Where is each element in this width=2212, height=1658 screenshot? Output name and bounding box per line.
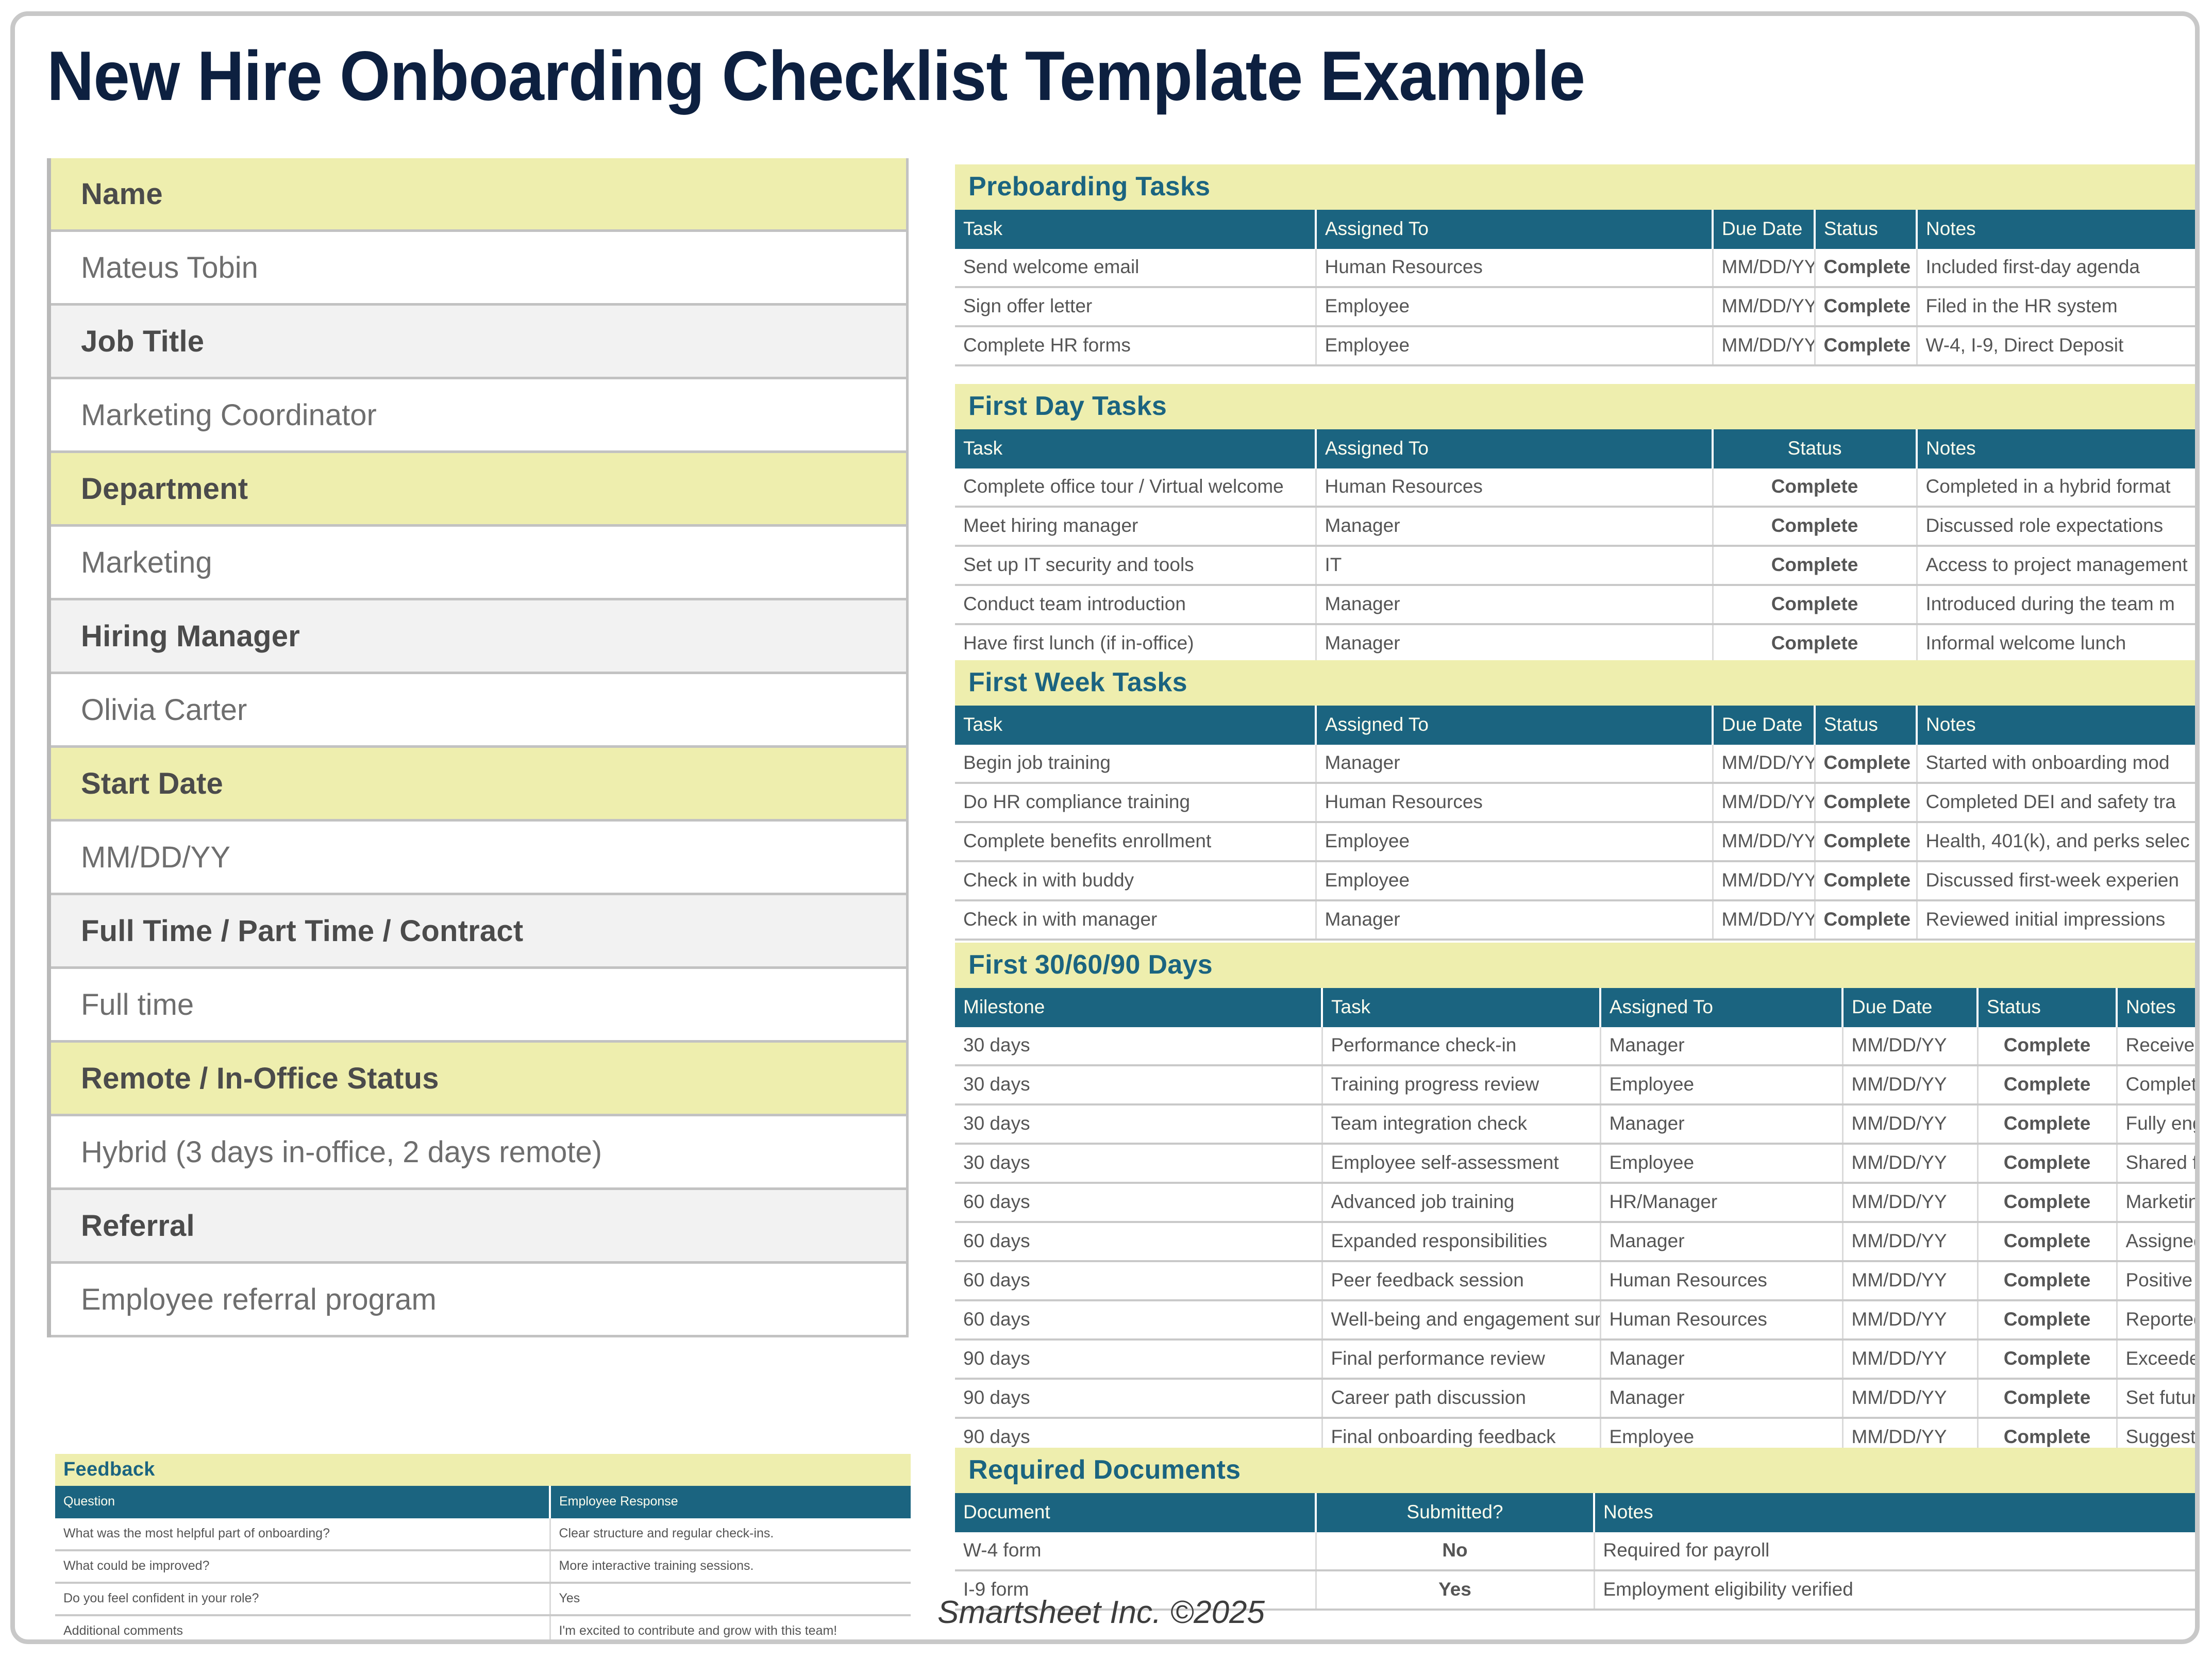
table-row: Check in with buddyEmployeeMM/DD/YYCompl… <box>955 861 2200 900</box>
status-badge[interactable]: Complete <box>1978 1144 2117 1183</box>
section-title-milestones: First 30/60/90 Days <box>955 943 2200 988</box>
table-row: 30 daysPerformance check-inManagerMM/DD/… <box>955 1027 2200 1065</box>
table-cell[interactable]: Human Resources <box>1316 249 1713 287</box>
column-header[interactable]: Due Date <box>1713 706 1815 745</box>
table-cell[interactable]: Completed co <box>2117 1065 2200 1104</box>
table-cell[interactable]: Marketing sof <box>2117 1183 2200 1222</box>
employee-info-panel: NameMateus TobinJob TitleMarketing Coord… <box>47 158 909 1337</box>
table-cell[interactable]: Employee <box>1600 1065 1842 1104</box>
table-cell[interactable]: Manager <box>1316 585 1713 624</box>
status-badge[interactable]: Complete <box>1815 326 1917 365</box>
table-cell[interactable]: Access to project management <box>1917 546 2200 585</box>
column-header[interactable]: Task <box>955 210 1316 249</box>
table-row: 60 daysExpanded responsibilitiesManagerM… <box>955 1222 2200 1261</box>
status-badge[interactable]: Complete <box>1815 822 1917 861</box>
column-header[interactable]: Task <box>955 429 1316 468</box>
table-cell[interactable]: MM/DD/YY <box>1713 822 1815 861</box>
table-cell[interactable]: 30 days <box>955 1065 1322 1104</box>
table-row: 90 daysFinal performance reviewManagerMM… <box>955 1339 2200 1379</box>
table-cell[interactable]: HR/Manager <box>1600 1183 1842 1222</box>
table-cell[interactable]: MM/DD/YY <box>1713 326 1815 365</box>
status-badge[interactable]: Complete <box>1815 783 1917 822</box>
table-cell[interactable]: Manager <box>1600 1339 1842 1379</box>
status-badge[interactable]: Complete <box>1815 861 1917 900</box>
table-cell[interactable]: Manager <box>1316 745 1713 783</box>
table-cell[interactable]: Well-being and engagement survey <box>1322 1300 1600 1339</box>
table-cell[interactable]: Complete benefits enrollment <box>955 822 1316 861</box>
table-cell[interactable]: MM/DD/YY <box>1842 1300 1978 1339</box>
table-cell[interactable]: Manager <box>1600 1379 1842 1418</box>
table-cell[interactable]: Begin job training <box>955 745 1316 783</box>
table-cell[interactable]: MM/DD/YY <box>1842 1379 1978 1418</box>
table-cell[interactable]: Discussed role expectations <box>1917 507 2200 546</box>
section-feedback: Feedback QuestionEmployee ResponseWhat w… <box>55 1454 911 1644</box>
section-required-documents: Required Documents DocumentSubmitted?Not… <box>955 1448 2200 1611</box>
table-cell[interactable]: Shared feedb <box>2117 1144 2200 1183</box>
table-cell[interactable]: Complete HR forms <box>955 326 1316 365</box>
table-cell[interactable]: What was the most helpful part of onboar… <box>55 1518 550 1550</box>
section-preboarding-tasks: Preboarding Tasks TaskAssigned ToDue Dat… <box>955 164 2200 366</box>
table-cell[interactable]: Send welcome email <box>955 249 1316 287</box>
table-cell[interactable]: 90 days <box>955 1339 1322 1379</box>
info-label: Hiring Manager <box>51 600 909 674</box>
table-cell[interactable]: Completed in a hybrid format <box>1917 468 2200 507</box>
table-cell[interactable]: Introduced during the team m <box>1917 585 2200 624</box>
table-cell[interactable]: Manager <box>1316 507 1713 546</box>
status-badge[interactable]: Complete <box>1978 1222 2117 1261</box>
table-row: What was the most helpful part of onboar… <box>55 1518 911 1550</box>
table-header-row: QuestionEmployee Response <box>55 1486 911 1518</box>
status-badge[interactable]: Complete <box>1815 249 1917 287</box>
table-cell[interactable]: 30 days <box>955 1027 1322 1065</box>
table-cell[interactable]: What could be improved? <box>55 1550 550 1583</box>
table-cell[interactable]: 60 days <box>955 1261 1322 1300</box>
column-header[interactable]: Assigned To <box>1316 429 1713 468</box>
page-title: New Hire Onboarding Checklist Template E… <box>47 36 1585 116</box>
table-row: 60 daysWell-being and engagement surveyH… <box>955 1300 2200 1339</box>
table-cell[interactable]: MM/DD/YY <box>1842 1222 1978 1261</box>
table-header-row: TaskAssigned ToDue DateStatusNotes <box>955 706 2200 745</box>
table-cell[interactable]: Received pos <box>2117 1027 2200 1065</box>
table-cell[interactable]: Employee <box>1316 326 1713 365</box>
table-cell[interactable]: Manager <box>1600 1027 1842 1065</box>
column-header[interactable]: Due Date <box>1842 988 1978 1027</box>
table-row: 60 daysPeer feedback sessionHuman Resour… <box>955 1261 2200 1300</box>
table-row: Sign offer letterEmployeeMM/DD/YYComplet… <box>955 287 2200 326</box>
required-documents-table: DocumentSubmitted?NotesW-4 formNoRequire… <box>955 1493 2200 1611</box>
column-header[interactable]: Document <box>955 1493 1316 1532</box>
table-cell[interactable]: 30 days <box>955 1144 1322 1183</box>
info-value[interactable]: Olivia Carter <box>51 674 909 748</box>
section-title-first-week: First Week Tasks <box>955 660 2200 706</box>
status-badge[interactable]: Complete <box>1713 546 1917 585</box>
section-title-required-documents: Required Documents <box>955 1448 2200 1493</box>
table-row: Meet hiring managerManagerCompleteDiscus… <box>955 507 2200 546</box>
document-page: New Hire Onboarding Checklist Template E… <box>10 11 2200 1644</box>
table-cell[interactable]: Discussed first-week experien <box>1917 861 2200 900</box>
table-cell[interactable]: Employee self-assessment <box>1322 1144 1600 1183</box>
table-cell[interactable]: Clear structure and regular check-ins. <box>550 1518 911 1550</box>
column-header[interactable]: Status <box>1815 706 1917 745</box>
table-row: Do you feel confident in your role?Yes <box>55 1583 911 1615</box>
column-header[interactable]: Notes <box>1594 1493 2200 1532</box>
table-row: Conduct team introductionManagerComplete… <box>955 585 2200 624</box>
table-cell[interactable]: Filed in the HR system <box>1917 287 2200 326</box>
submitted-badge[interactable]: Yes <box>1316 1570 1594 1610</box>
table-cell[interactable]: MM/DD/YY <box>1842 1144 1978 1183</box>
table-cell[interactable]: MM/DD/YY <box>1713 861 1815 900</box>
table-row: 30 daysEmployee self-assessmentEmployeeM… <box>955 1144 2200 1183</box>
table-cell[interactable]: W-4, I-9, Direct Deposit <box>1917 326 2200 365</box>
column-header[interactable]: Employee Response <box>550 1486 911 1518</box>
column-header[interactable]: Notes <box>2117 988 2200 1027</box>
table-cell[interactable]: Health, 401(k), and perks selec <box>1917 822 2200 861</box>
section-first-day-tasks: First Day Tasks TaskAssigned ToStatusNot… <box>955 384 2200 664</box>
table-row: Set up IT security and toolsITCompleteAc… <box>955 546 2200 585</box>
table-header-row: TaskAssigned ToDue DateStatusNotes <box>955 210 2200 249</box>
table-cell[interactable]: Human Resources <box>1600 1261 1842 1300</box>
status-badge[interactable]: Complete <box>1713 507 1917 546</box>
column-header[interactable]: Question <box>55 1486 550 1518</box>
table-cell[interactable]: Started with onboarding mod <box>1917 745 2200 783</box>
column-header[interactable]: Notes <box>1917 429 2200 468</box>
table-cell[interactable]: 90 days <box>955 1379 1322 1418</box>
info-label: Department <box>51 453 909 527</box>
table-row: What could be improved?More interactive … <box>55 1550 911 1583</box>
table-cell[interactable]: Manager <box>1316 624 1713 663</box>
table-cell[interactable]: Advanced job training <box>1322 1183 1600 1222</box>
table-row: Do HR compliance trainingHuman Resources… <box>955 783 2200 822</box>
info-label: Full Time / Part Time / Contract <box>51 895 909 969</box>
table-cell[interactable]: Reported high <box>2117 1300 2200 1339</box>
column-header[interactable]: Assigned To <box>1316 706 1713 745</box>
table-cell[interactable]: MM/DD/YY <box>1842 1261 1978 1300</box>
table-row: 60 daysAdvanced job trainingHR/ManagerMM… <box>955 1183 2200 1222</box>
table-cell[interactable]: Have first lunch (if in-office) <box>955 624 1316 663</box>
info-value[interactable]: MM/DD/YY <box>51 822 909 895</box>
column-header[interactable]: Due Date <box>1713 210 1815 249</box>
table-row: Complete office tour / Virtual welcomeHu… <box>955 468 2200 507</box>
table-cell[interactable]: Final performance review <box>1322 1339 1600 1379</box>
column-header[interactable]: Notes <box>1917 210 2200 249</box>
status-badge[interactable]: Complete <box>1815 900 1917 940</box>
table-cell[interactable]: More interactive training sessions. <box>550 1550 911 1583</box>
table-cell[interactable]: Employee <box>1316 287 1713 326</box>
table-cell[interactable]: 30 days <box>955 1104 1322 1144</box>
table-cell[interactable]: Included first-day agenda <box>1917 249 2200 287</box>
info-label: Job Title <box>51 306 909 379</box>
column-header[interactable]: Task <box>955 706 1316 745</box>
table-cell[interactable]: MM/DD/YY <box>1713 745 1815 783</box>
table-cell[interactable]: Performance check-in <box>1322 1027 1600 1065</box>
table-row: 30 daysTraining progress reviewEmployeeM… <box>955 1065 2200 1104</box>
table-cell[interactable]: Manager <box>1600 1222 1842 1261</box>
column-header[interactable]: Milestone <box>955 988 1322 1027</box>
table-row: Send welcome emailHuman ResourcesMM/DD/Y… <box>955 249 2200 287</box>
status-badge[interactable]: Complete <box>1978 1065 2117 1104</box>
section-first-week-tasks: First Week Tasks TaskAssigned ToDue Date… <box>955 660 2200 941</box>
table-row: Additional commentsI'm excited to contri… <box>55 1615 911 1644</box>
column-header[interactable]: Status <box>1978 988 2117 1027</box>
table-row: Complete HR formsEmployeeMM/DD/YYComplet… <box>955 326 2200 365</box>
status-badge[interactable]: Complete <box>1713 624 1917 663</box>
table-cell[interactable]: Check in with buddy <box>955 861 1316 900</box>
table-cell[interactable]: Human Resources <box>1600 1300 1842 1339</box>
column-header[interactable]: Assigned To <box>1600 988 1842 1027</box>
table-cell[interactable]: 60 days <box>955 1183 1322 1222</box>
table-cell[interactable]: Sign offer letter <box>955 287 1316 326</box>
table-cell[interactable]: 60 days <box>955 1300 1322 1339</box>
first-week-tasks-table: TaskAssigned ToDue DateStatusNotesBegin … <box>955 706 2200 941</box>
info-value[interactable]: Mateus Tobin <box>51 232 909 306</box>
table-cell[interactable]: Do HR compliance training <box>955 783 1316 822</box>
table-cell[interactable]: Human Resources <box>1316 468 1713 507</box>
table-cell[interactable]: Employee <box>1316 861 1713 900</box>
table-cell[interactable]: Do you feel confident in your role? <box>55 1583 550 1615</box>
table-row: Check in with managerManagerMM/DD/YYComp… <box>955 900 2200 940</box>
column-header[interactable]: Submitted? <box>1316 1493 1594 1532</box>
table-cell[interactable]: MM/DD/YY <box>1713 249 1815 287</box>
table-cell[interactable]: Conduct team introduction <box>955 585 1316 624</box>
table-header-row: DocumentSubmitted?Notes <box>955 1493 2200 1532</box>
table-cell[interactable]: Assigned a mo <box>2117 1222 2200 1261</box>
feedback-table: QuestionEmployee ResponseWhat was the mo… <box>55 1486 911 1644</box>
status-badge[interactable]: Complete <box>1713 468 1917 507</box>
section-title-first-day: First Day Tasks <box>955 384 2200 429</box>
status-badge[interactable]: Complete <box>1978 1183 2117 1222</box>
table-cell[interactable]: I'm excited to contribute and grow with … <box>550 1615 911 1644</box>
info-value[interactable]: Marketing Coordinator <box>51 379 909 453</box>
table-cell[interactable]: Additional comments <box>55 1615 550 1644</box>
table-cell[interactable]: Training progress review <box>1322 1065 1600 1104</box>
table-row: 30 daysTeam integration checkManagerMM/D… <box>955 1104 2200 1144</box>
status-badge[interactable]: Complete <box>1978 1379 2117 1418</box>
section-first-30-60-90-days: First 30/60/90 Days MilestoneTaskAssigne… <box>955 943 2200 1497</box>
table-cell[interactable]: Team integration check <box>1322 1104 1600 1144</box>
table-cell[interactable]: Set future grow <box>2117 1379 2200 1418</box>
section-title-feedback: Feedback <box>55 1454 911 1486</box>
table-cell[interactable]: Complete office tour / Virtual welcome <box>955 468 1316 507</box>
info-label: Start Date <box>51 748 909 822</box>
info-value[interactable]: Employee referral program <box>51 1264 909 1337</box>
table-cell[interactable]: Informal welcome lunch <box>1917 624 2200 663</box>
info-label: Remote / In-Office Status <box>51 1043 909 1116</box>
table-cell[interactable]: Employee <box>1600 1144 1842 1183</box>
copyright-footer: Smartsheet Inc. ©2025 <box>937 1594 1265 1631</box>
submitted-badge[interactable]: No <box>1316 1532 1594 1570</box>
table-cell[interactable]: Manager <box>1600 1104 1842 1144</box>
preboarding-tasks-table: TaskAssigned ToDue DateStatusNotesSend w… <box>955 210 2200 366</box>
table-cell[interactable]: IT <box>1316 546 1713 585</box>
info-value[interactable]: Hybrid (3 days in-office, 2 days remote) <box>51 1116 909 1190</box>
table-header-row: TaskAssigned ToStatusNotes <box>955 429 2200 468</box>
table-cell[interactable]: MM/DD/YY <box>1842 1065 1978 1104</box>
table-cell[interactable]: Reviewed initial impressions <box>1917 900 2200 940</box>
table-cell[interactable]: Set up IT security and tools <box>955 546 1316 585</box>
column-header[interactable]: Status <box>1815 210 1917 249</box>
table-cell[interactable]: Exceeded exp <box>2117 1339 2200 1379</box>
table-row: 90 daysCareer path discussionManagerMM/D… <box>955 1379 2200 1418</box>
table-cell[interactable]: MM/DD/YY <box>1842 1104 1978 1144</box>
info-label: Referral <box>51 1190 909 1264</box>
table-cell[interactable]: MM/DD/YY <box>1842 1183 1978 1222</box>
column-header[interactable]: Notes <box>1917 706 2200 745</box>
table-cell[interactable]: Career path discussion <box>1322 1379 1600 1418</box>
column-header[interactable]: Assigned To <box>1316 210 1713 249</box>
column-header[interactable]: Status <box>1713 429 1917 468</box>
table-cell[interactable]: Completed DEI and safety tra <box>1917 783 2200 822</box>
info-value[interactable]: Marketing <box>51 527 909 600</box>
table-cell[interactable]: Positive feedb <box>2117 1261 2200 1300</box>
table-cell[interactable]: Required for payroll <box>1594 1532 2200 1570</box>
section-title-preboarding: Preboarding Tasks <box>955 164 2200 210</box>
table-cell[interactable]: 60 days <box>955 1222 1322 1261</box>
table-cell[interactable]: Fully engaged <box>2117 1104 2200 1144</box>
table-cell[interactable]: Human Resources <box>1316 783 1713 822</box>
table-cell[interactable]: MM/DD/YY <box>1713 900 1815 940</box>
column-header[interactable]: Task <box>1322 988 1600 1027</box>
table-cell[interactable]: Employment eligibility verified <box>1594 1570 2200 1610</box>
table-cell[interactable]: MM/DD/YY <box>1842 1027 1978 1065</box>
table-cell[interactable]: Expanded responsibilities <box>1322 1222 1600 1261</box>
table-cell[interactable]: W-4 form <box>955 1532 1316 1570</box>
info-label: Name <box>51 158 909 232</box>
table-cell[interactable]: Peer feedback session <box>1322 1261 1600 1300</box>
table-cell[interactable]: MM/DD/YY <box>1842 1339 1978 1379</box>
status-badge[interactable]: Complete <box>1713 585 1917 624</box>
status-badge[interactable]: Complete <box>1978 1300 2117 1339</box>
table-cell[interactable]: Employee <box>1316 822 1713 861</box>
status-badge[interactable]: Complete <box>1815 287 1917 326</box>
status-badge[interactable]: Complete <box>1815 745 1917 783</box>
status-badge[interactable]: Complete <box>1978 1339 2117 1379</box>
first-day-tasks-table: TaskAssigned ToStatusNotesComplete offic… <box>955 429 2200 664</box>
table-cell[interactable]: MM/DD/YY <box>1713 783 1815 822</box>
table-cell[interactable]: Check in with manager <box>955 900 1316 940</box>
table-cell[interactable]: Manager <box>1316 900 1713 940</box>
table-row: Begin job trainingManagerMM/DD/YYComplet… <box>955 745 2200 783</box>
table-cell[interactable]: Yes <box>550 1583 911 1615</box>
milestones-table: MilestoneTaskAssigned ToDue DateStatusNo… <box>955 988 2200 1497</box>
table-row: Have first lunch (if in-office)ManagerCo… <box>955 624 2200 663</box>
status-badge[interactable]: Complete <box>1978 1261 2117 1300</box>
info-value[interactable]: Full time <box>51 969 909 1043</box>
table-cell[interactable]: Meet hiring manager <box>955 507 1316 546</box>
table-cell[interactable]: MM/DD/YY <box>1713 287 1815 326</box>
table-row: W-4 formNoRequired for payroll <box>955 1532 2200 1570</box>
table-row: Complete benefits enrollmentEmployeeMM/D… <box>955 822 2200 861</box>
status-badge[interactable]: Complete <box>1978 1027 2117 1065</box>
status-badge[interactable]: Complete <box>1978 1104 2117 1144</box>
table-header-row: MilestoneTaskAssigned ToDue DateStatusNo… <box>955 988 2200 1027</box>
